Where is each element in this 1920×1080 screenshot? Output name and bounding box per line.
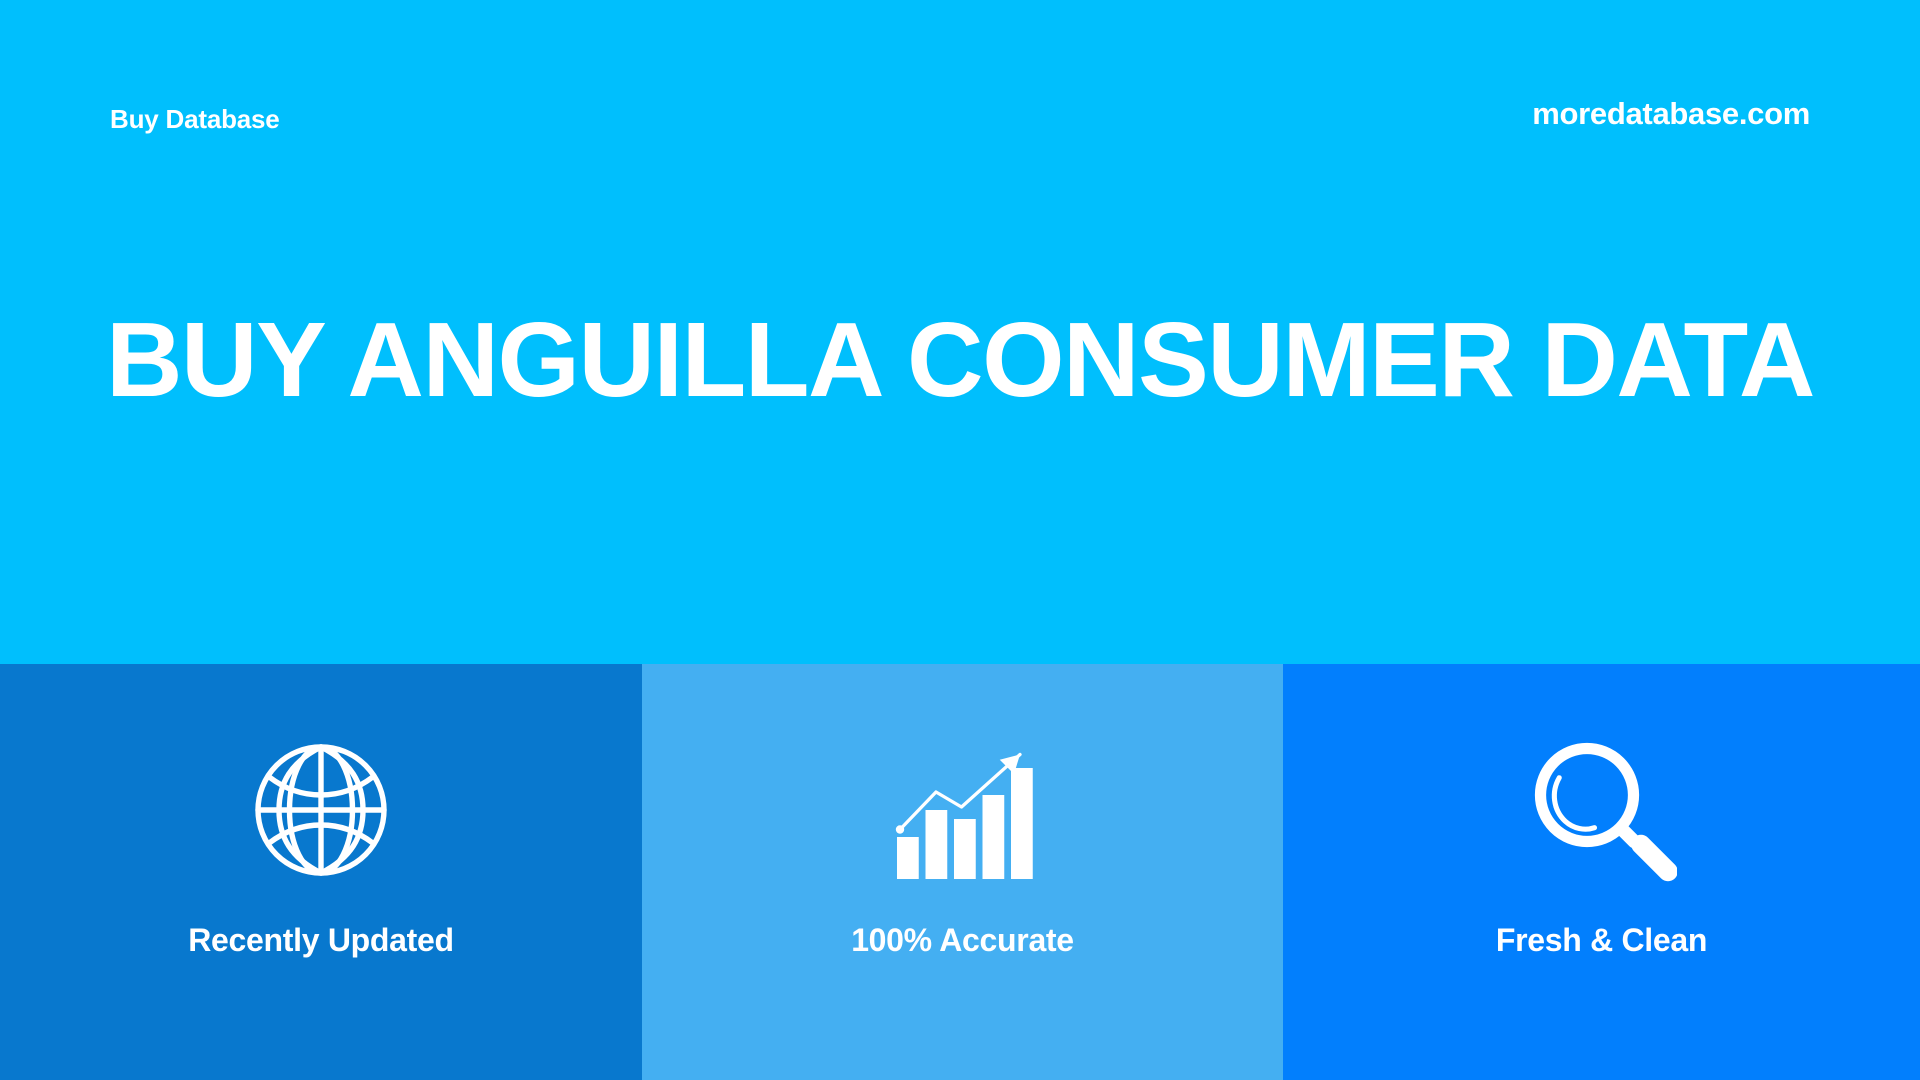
bar-chart-growth-icon xyxy=(875,722,1051,898)
magnifying-glass-icon xyxy=(1514,722,1690,898)
promo-banner: Buy Database moredatabase.com BUY ANGUIL… xyxy=(0,0,1920,1080)
feature-label: 100% Accurate xyxy=(851,924,1074,956)
website-url: moredatabase.com xyxy=(1532,98,1810,129)
feature-card-recently-updated: Recently Updated xyxy=(0,664,642,1080)
hero-section: Buy Database moredatabase.com BUY ANGUIL… xyxy=(0,0,1920,664)
globe-icon xyxy=(233,722,409,898)
feature-label: Recently Updated xyxy=(188,924,453,956)
feature-strip: Recently Updated xyxy=(0,664,1920,1080)
feature-card-fresh-clean: Fresh & Clean xyxy=(1283,664,1920,1080)
page-title: BUY ANGUILLA CONSUMER DATA xyxy=(0,296,1920,425)
brand-name: Buy Database xyxy=(110,106,280,132)
brand-row: Buy Database moredatabase.com xyxy=(0,0,1920,200)
feature-label: Fresh & Clean xyxy=(1496,924,1707,956)
feature-card-100-accurate: 100% Accurate xyxy=(642,664,1283,1080)
